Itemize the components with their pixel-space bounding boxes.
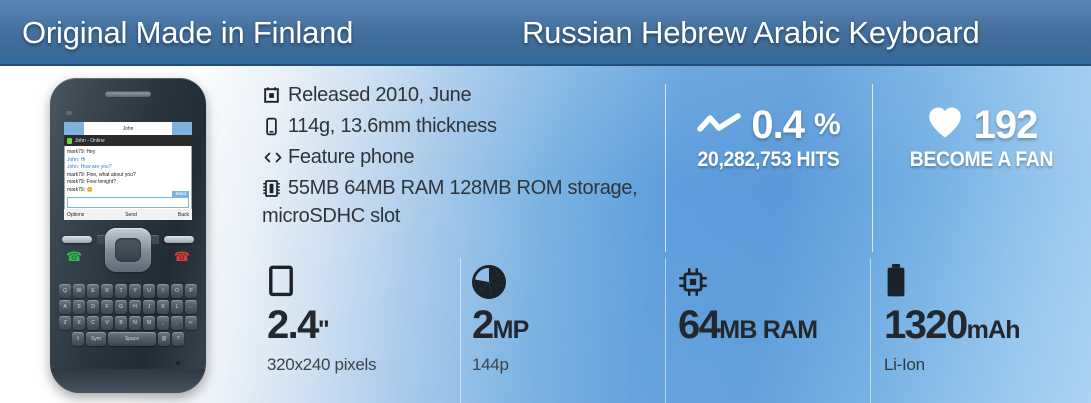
bottom-spec-battery: 1320mAh Li-Ion xyxy=(884,262,1084,375)
trend-line-icon xyxy=(697,104,741,146)
chat-message: John: Hi xyxy=(67,157,189,165)
calendar-icon xyxy=(262,82,288,108)
battery-value: 1320 xyxy=(884,303,967,347)
bottom-spec-value: 1320mAh xyxy=(884,304,1084,351)
stat-fans-value: 192 xyxy=(974,104,1038,146)
bottom-spec-display: 2.4" 320x240 pixels xyxy=(267,262,452,375)
chat-message: mark79: Free tonight? xyxy=(67,179,189,187)
bottom-spec-sub: 320x240 pixels xyxy=(267,355,452,375)
lock-icon xyxy=(67,138,72,144)
chat-message: John: How are you? xyxy=(67,164,189,172)
spec-text-continuation: microSDHC slot xyxy=(262,203,662,229)
camera-value: 2 xyxy=(472,303,493,347)
stat-fans[interactable]: 192 BECOME A FAN xyxy=(872,104,1091,172)
stat-hits-value: 0.4 xyxy=(751,104,804,146)
chat-message: mark79: 😊 xyxy=(67,187,189,195)
battery-unit: mAh xyxy=(967,316,1020,344)
spec-item-storage: 55MB 64MB RAM 128MB ROM storage, xyxy=(262,175,662,201)
memory-chip-icon xyxy=(262,175,288,201)
camera-aperture-icon xyxy=(472,262,657,302)
banner-header: Original Made in Finland Russian Hebrew … xyxy=(0,0,1091,66)
spec-item-release-date: Released 2010, June xyxy=(262,82,662,108)
screen-status-bar: John - Online xyxy=(64,135,192,146)
device-spec-banner: Original Made in Finland Russian Hebrew … xyxy=(0,0,1091,403)
battery-icon xyxy=(884,262,1084,302)
right-softkey-button xyxy=(164,236,194,243)
bottom-spec-sub: Li-Ion xyxy=(884,355,1084,375)
softkey-left: Options xyxy=(67,212,84,218)
spec-text: Released 2010, June xyxy=(288,82,662,108)
stat-fans-label[interactable]: BECOME A FAN xyxy=(881,148,1082,172)
display-icon xyxy=(267,262,452,302)
header-left-title: Original Made in Finland xyxy=(22,15,353,51)
ram-value: 64 xyxy=(678,303,719,347)
spec-list: Released 2010, June 114g, 13.6mm thickne… xyxy=(262,82,662,229)
ram-unit: MB RAM xyxy=(719,316,817,344)
softkey-center: Send xyxy=(125,212,137,218)
stat-fans-value-row: 192 xyxy=(872,104,1091,146)
stat-hits-value-row: 0.4% xyxy=(665,104,872,146)
bottom-spec-row: 2.4" 320x240 pixels 2MP 144p xyxy=(0,262,1091,402)
camera-unit: MP xyxy=(493,316,529,344)
chat-message: mark79: Hey xyxy=(67,149,189,157)
spec-item-body: 114g, 13.6mm thickness xyxy=(262,113,662,139)
spec-text: Feature phone xyxy=(288,144,662,170)
screen-title-bar: John xyxy=(64,122,192,135)
earpiece xyxy=(105,91,151,97)
display-size-unit: " xyxy=(318,316,329,344)
phone-icon xyxy=(262,113,288,139)
spec-text: 55MB 64MB RAM 128MB ROM storage, xyxy=(288,175,662,201)
header-right-title: Russian Hebrew Arabic Keyboard xyxy=(522,15,980,51)
display-size-value: 2.4 xyxy=(267,303,318,347)
screen-message-input xyxy=(67,197,189,208)
stat-hits-unit: % xyxy=(814,104,840,146)
front-camera-icon xyxy=(66,111,72,115)
bottom-spec-value: 2.4" xyxy=(267,304,452,351)
softkey-right: Back xyxy=(178,212,189,218)
bottom-spec-camera: 2MP 144p xyxy=(472,262,657,375)
left-softkey-button xyxy=(62,236,92,243)
bottom-spec-value: 2MP xyxy=(472,304,657,351)
screen-status-text: John - Online xyxy=(75,138,105,144)
screen-softkey-bar: Options Send Back xyxy=(64,209,192,220)
chat-message-list: mark79: Hey John: Hi John: How are you? … xyxy=(64,146,192,194)
chat-message: mark79: Fine, what about you? xyxy=(67,172,189,180)
phone-screen: John John - Online mark79: Hey John: Hi … xyxy=(64,122,192,220)
bottom-spec-sub: 144p xyxy=(472,355,657,375)
screen-title: John xyxy=(84,122,172,135)
spec-item-os: Feature phone xyxy=(262,144,662,170)
bottom-spec-value: 64MB RAM xyxy=(678,304,863,351)
stat-hits-label: 20,282,753 HITS xyxy=(673,148,863,172)
code-brackets-icon xyxy=(262,144,288,170)
heart-icon xyxy=(926,105,964,145)
stat-hits: 0.4% 20,282,753 HITS xyxy=(665,104,872,172)
messaging-key xyxy=(150,235,159,244)
spec-text: 114g, 13.6mm thickness xyxy=(288,113,662,139)
bottom-spec-ram: 64MB RAM xyxy=(678,262,863,355)
cpu-chip-icon xyxy=(678,262,863,302)
